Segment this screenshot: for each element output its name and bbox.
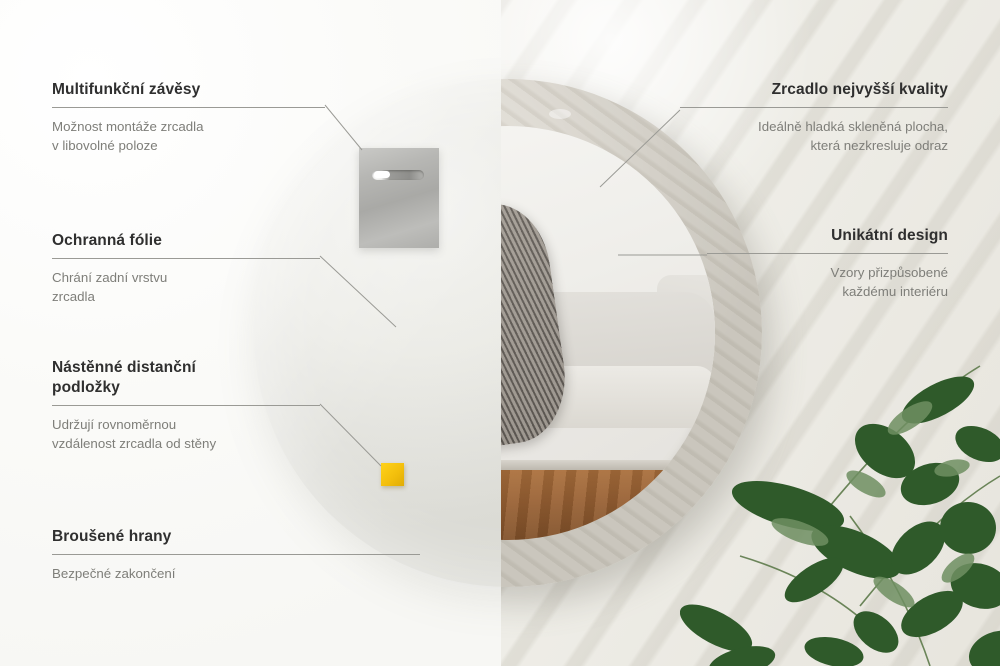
callout-description: Ideálně hladká skleněná plocha, která ne… bbox=[680, 117, 948, 155]
callout-rule bbox=[707, 253, 948, 254]
spacer-pad bbox=[381, 463, 404, 486]
callout-title: Ochranná fólie bbox=[52, 231, 320, 251]
callout-rule bbox=[680, 107, 948, 108]
hanger-plate bbox=[359, 148, 439, 248]
callout-title: Multifunkční závěsy bbox=[52, 80, 325, 100]
callout-description: Vzory přizpůsobené každému interiéru bbox=[707, 263, 948, 301]
callout-unikatni-design: Unikátní design Vzory přizpůsobené každé… bbox=[707, 226, 948, 301]
callout-description: Chrání zadní vrstvu zrcadla bbox=[52, 268, 320, 306]
callout-title: Unikátní design bbox=[707, 226, 948, 246]
callout-rule bbox=[52, 554, 420, 555]
callout-title: Zrcadlo nejvyšší kvality bbox=[680, 80, 948, 100]
callout-description: Bezpečné zakončení bbox=[52, 564, 420, 583]
callout-rule bbox=[52, 405, 320, 406]
callout-title: Broušené hrany bbox=[52, 527, 420, 547]
green-leaves-decoration bbox=[680, 356, 1000, 666]
callout-multifunkcni-zavesy: Multifunkční závěsy Možnost montáže zrca… bbox=[52, 80, 325, 155]
callout-brousene-hrany: Broušené hrany Bezpečné zakončení bbox=[52, 527, 420, 583]
infographic-canvas: Multifunkční závěsy Možnost montáže zrca… bbox=[0, 0, 1000, 666]
callout-description: Možnost montáže zrcadla v libovolné polo… bbox=[52, 117, 325, 155]
callout-nastenne-distancni-podlozky: Nástěnné distanční podložky Udržují rovn… bbox=[52, 358, 320, 453]
callout-rule bbox=[52, 258, 320, 259]
callout-zrcadlo-nejvyssi-kvality: Zrcadlo nejvyšší kvality Ideálně hladká … bbox=[680, 80, 948, 155]
hanger-slot-icon bbox=[372, 170, 424, 180]
callout-ochranna-folie: Ochranná fólie Chrání zadní vrstvu zrcad… bbox=[52, 231, 320, 306]
callout-rule bbox=[52, 107, 325, 108]
callout-title: Nástěnné distanční podložky bbox=[52, 358, 320, 398]
callout-description: Udržují rovnoměrnou vzdálenost zrcadla o… bbox=[52, 415, 320, 453]
